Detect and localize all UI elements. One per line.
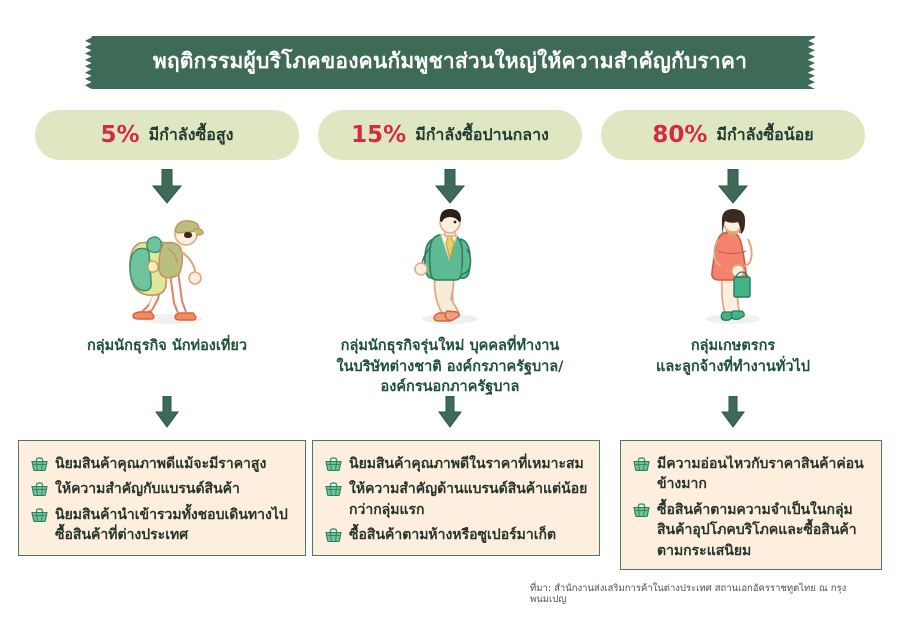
info-box-1: นิยมสินค้าคุณภาพดีในราคาที่เหมาะสม ให้คว…: [312, 440, 600, 556]
caption-line: กลุ่มเกษตรกร: [588, 336, 878, 357]
bullet-item: นิยมสินค้าคุณภาพดีแม้จะมีราคาสูง: [31, 454, 295, 474]
illustration-businessman: [305, 207, 595, 325]
percent-label-1: มีกำลังซื้อปานกลาง: [415, 127, 549, 144]
shopping-basket-icon: [31, 508, 48, 522]
segment-column-0: 5% มีกำลังซื้อสูง: [22, 110, 312, 357]
shopping-basket-icon: [325, 482, 342, 496]
bullet-item: นิยมสินค้านำเข้ารวมทั้งชอบเดินทางไปซื้อส…: [31, 505, 295, 546]
percent-label-0: มีกำลังซื้อสูง: [149, 127, 234, 144]
bullet-text: ซื้อสินค้าตามความจำเป็นในกลุ่มสินค้าอุปโ…: [657, 500, 871, 561]
caption-line: และลูกจ้างที่ทำงานทั่วไป: [588, 357, 878, 378]
shopping-basket-icon: [633, 503, 650, 517]
bullet-item: ให้ความสำคัญกับแบรนด์สินค้า: [31, 479, 295, 499]
percent-pill-2: 80% มีกำลังซื้อน้อย: [601, 110, 865, 160]
illustration-backpacker: [22, 207, 312, 325]
shopping-basket-icon: [325, 457, 342, 471]
bullet-text: มีความอ่อนไหวกับราคาสินค้าค่อนข้างมาก: [657, 454, 871, 495]
segment-column-2: 80% มีกำลังซื้อน้อย: [588, 110, 878, 377]
bullet-text: นิยมสินค้านำเข้ารวมทั้งชอบเดินทางไปซื้อส…: [55, 505, 295, 546]
percent-pill-1: 15% มีกำลังซื้อปานกลาง: [318, 110, 582, 160]
bullet-item: ซื้อสินค้าตามความจำเป็นในกลุ่มสินค้าอุปโ…: [633, 500, 871, 561]
businessman-green-blazer-icon: [395, 209, 505, 325]
down-arrow-icon: [720, 396, 746, 429]
bullet-text: ให้ความสำคัญด้านแบรนด์สินค้าแต่น้อยกว่าก…: [349, 479, 589, 520]
down-arrow-icon: [437, 396, 463, 429]
info-box-0: นิยมสินค้าคุณภาพดีแม้จะมีราคาสูง ให้ความ…: [18, 440, 306, 556]
shopping-basket-icon: [633, 457, 650, 471]
backpacker-traveler-icon: [106, 209, 228, 325]
arrow-down-mid-1-wrap: [305, 392, 595, 432]
caption-line: ในบริษัทต่างชาติ องค์กรภาครัฐบาล/: [305, 357, 595, 378]
arrow-down-mid-2-wrap: [588, 392, 878, 432]
info-box-2: มีความอ่อนไหวกับราคาสินค้าค่อนข้างมาก ซื…: [620, 440, 882, 570]
segment-caption-2: กลุ่มเกษตรกร และลูกจ้างที่ทำงานทั่วไป: [588, 336, 878, 377]
bullet-text: นิยมสินค้าคุณภาพดีแม้จะมีราคาสูง: [55, 454, 266, 474]
page-title: พฤติกรรมผู้บริโภคของคนกัมพูชาส่วนใหญ่ให้…: [85, 36, 815, 89]
segment-caption-1: กลุ่มนักธุรกิจรุ่นใหม่ บุคคลที่ทำงาน ในบ…: [305, 336, 595, 398]
down-arrow-icon: [150, 169, 184, 205]
bullet-text: ให้ความสำคัญกับแบรนด์สินค้า: [55, 479, 240, 499]
caption-line: กลุ่มนักธุรกิจรุ่นใหม่ บุคคลที่ทำงาน: [305, 336, 595, 357]
illustration-woman-shopper: [588, 207, 878, 325]
percent-label-2: มีกำลังซื้อน้อย: [716, 127, 813, 144]
arrow-down-top-2: [588, 169, 878, 205]
shopping-basket-icon: [31, 457, 48, 471]
arrow-down-top-0: [22, 169, 312, 205]
woman-shopping-bag-icon: [680, 209, 786, 325]
percent-value-2: 80%: [652, 124, 707, 147]
source-note: ที่มา: สำนักงานส่งเสริมการค้าในต่างประเท…: [530, 583, 882, 606]
down-arrow-icon: [154, 396, 180, 429]
bullet-item: นิยมสินค้าคุณภาพดีในราคาที่เหมาะสม: [325, 454, 589, 474]
percent-value-1: 15%: [351, 124, 406, 147]
bullet-item: ให้ความสำคัญด้านแบรนด์สินค้าแต่น้อยกว่าก…: [325, 479, 589, 520]
bullet-item: มีความอ่อนไหวกับราคาสินค้าค่อนข้างมาก: [633, 454, 871, 495]
arrow-down-top-1: [305, 169, 595, 205]
segment-column-1: 15% มีกำลังซื้อปานกลาง: [305, 110, 595, 398]
caption-line: กลุ่มนักธุรกิจ นักท่องเที่ยว: [22, 336, 312, 357]
bullet-text: นิยมสินค้าคุณภาพดีในราคาที่เหมาะสม: [349, 454, 584, 474]
percent-pill-0: 5% มีกำลังซื้อสูง: [35, 110, 299, 160]
title-banner: พฤติกรรมผู้บริโภคของคนกัมพูชาส่วนใหญ่ให้…: [85, 36, 815, 89]
down-arrow-icon: [433, 169, 467, 205]
segment-caption-0: กลุ่มนักธุรกิจ นักท่องเที่ยว: [22, 336, 312, 357]
bullet-text: ซื้อสินค้าตามห้างหรือซูเปอร์มาเก็ต: [349, 525, 556, 545]
bullet-item: ซื้อสินค้าตามห้างหรือซูเปอร์มาเก็ต: [325, 525, 589, 545]
arrow-down-mid-0-wrap: [22, 392, 312, 432]
shopping-basket-icon: [325, 528, 342, 542]
percent-value-0: 5%: [101, 124, 140, 147]
down-arrow-icon: [716, 169, 750, 205]
shopping-basket-icon: [31, 482, 48, 496]
